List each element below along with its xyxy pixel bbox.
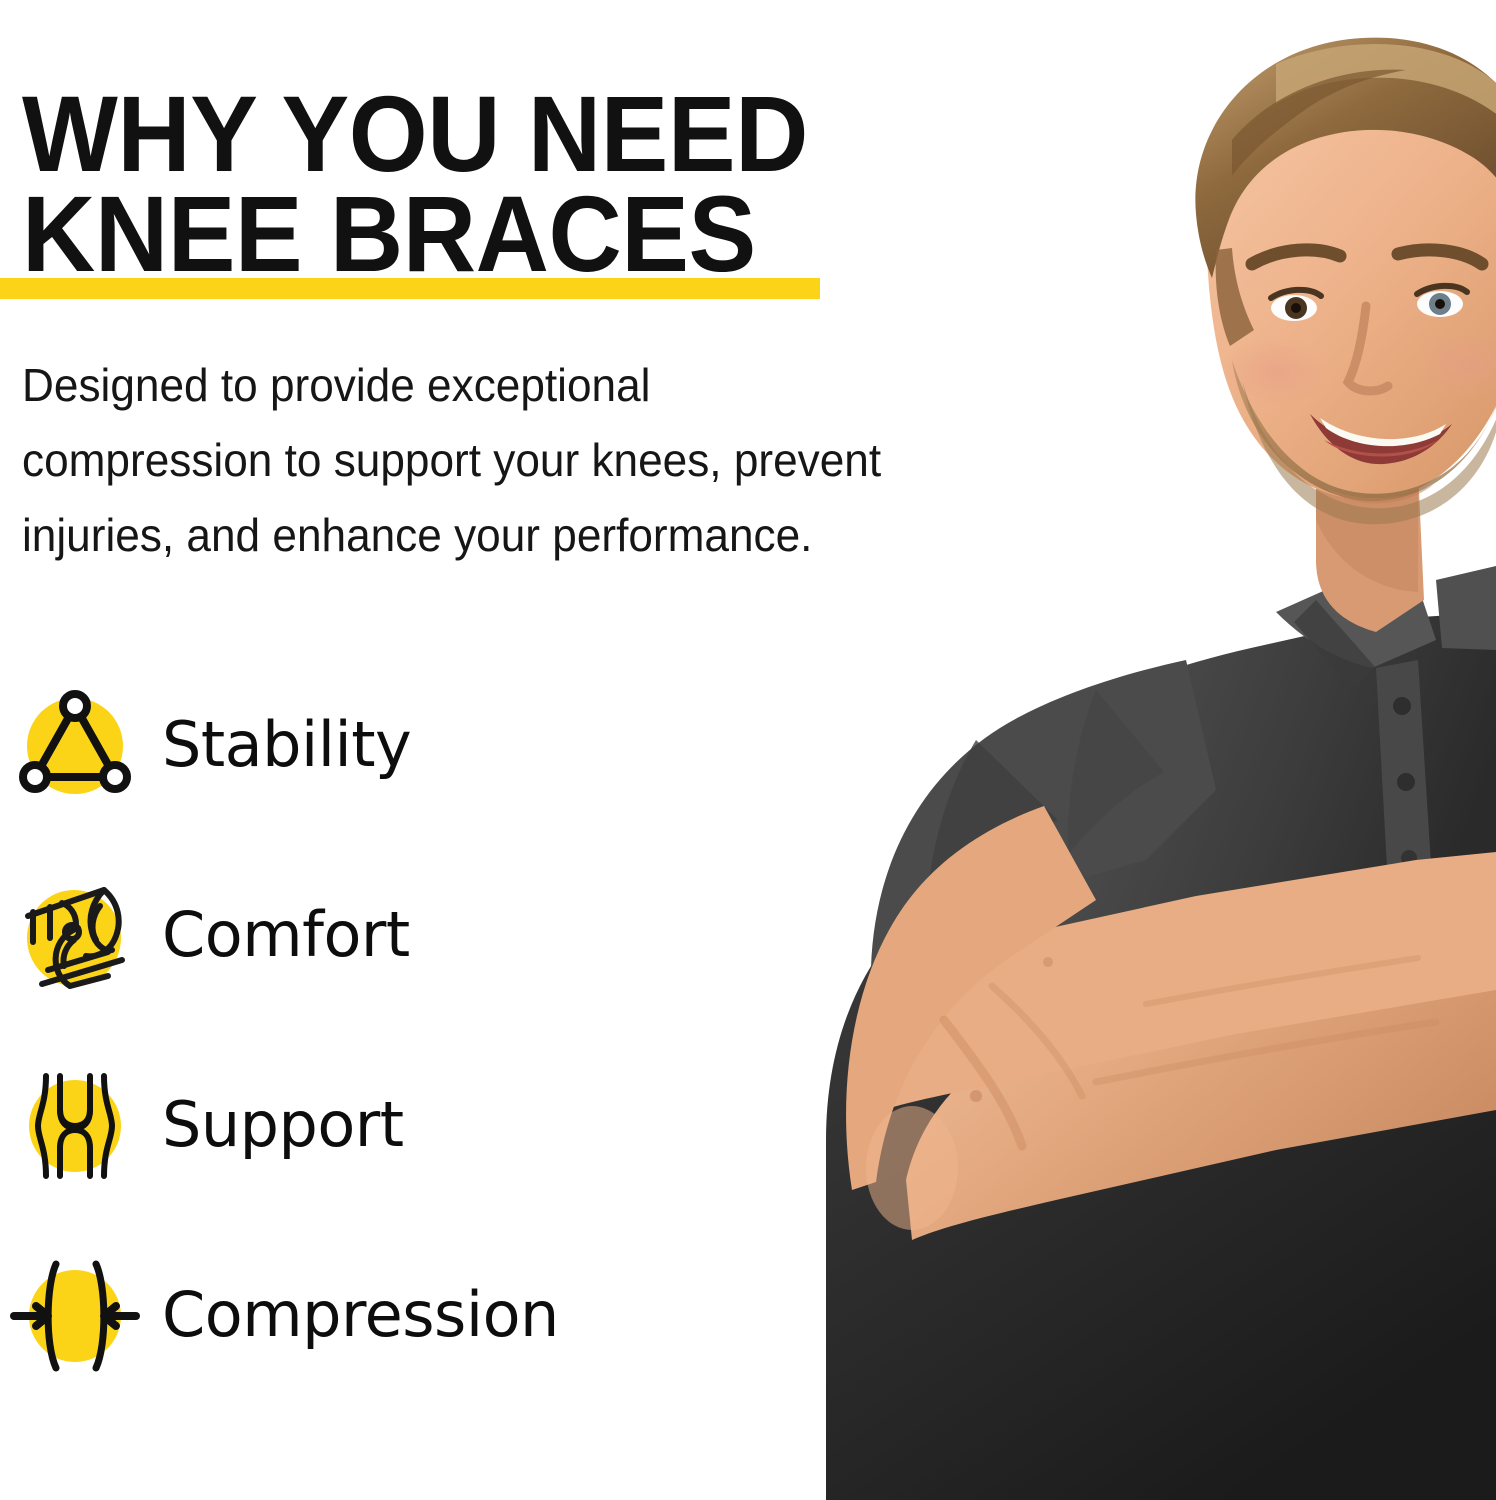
triangle-nodes-icon [12, 682, 138, 808]
page-title: WHY YOU NEED KNEE BRACES [22, 84, 1022, 284]
subtitle-line-2: compression to support your knees, preve… [22, 423, 992, 498]
inward-arrows-icon [12, 1252, 138, 1378]
subtitle-paragraph: Designed to provide exceptional compress… [22, 348, 992, 573]
feature-row-support: Support [0, 1030, 900, 1220]
headline-line-1: WHY YOU NEED [22, 84, 962, 184]
feature-row-comfort: Comfort [0, 840, 900, 1030]
feature-row-compression: Compression [0, 1220, 900, 1410]
subtitle-line-3: injuries, and enhance your performance. [22, 498, 992, 573]
left-content-column: WHY YOU NEED KNEE BRACES Designed to pro… [0, 0, 1060, 1500]
feature-label-support: Support [162, 1094, 404, 1156]
headline-line-2: KNEE BRACES [22, 184, 962, 284]
feature-row-stability: Stability [0, 650, 900, 840]
feature-label-compression: Compression [162, 1284, 559, 1346]
feature-list: Stability [0, 650, 900, 1410]
knee-brace-icon [12, 872, 138, 998]
knee-joint-icon [12, 1062, 138, 1188]
product-feature-banner: WHY YOU NEED KNEE BRACES Designed to pro… [0, 0, 1496, 1500]
feature-label-comfort: Comfort [162, 904, 410, 966]
subtitle-line-1: Designed to provide exceptional [22, 348, 992, 423]
feature-label-stability: Stability [162, 714, 411, 776]
